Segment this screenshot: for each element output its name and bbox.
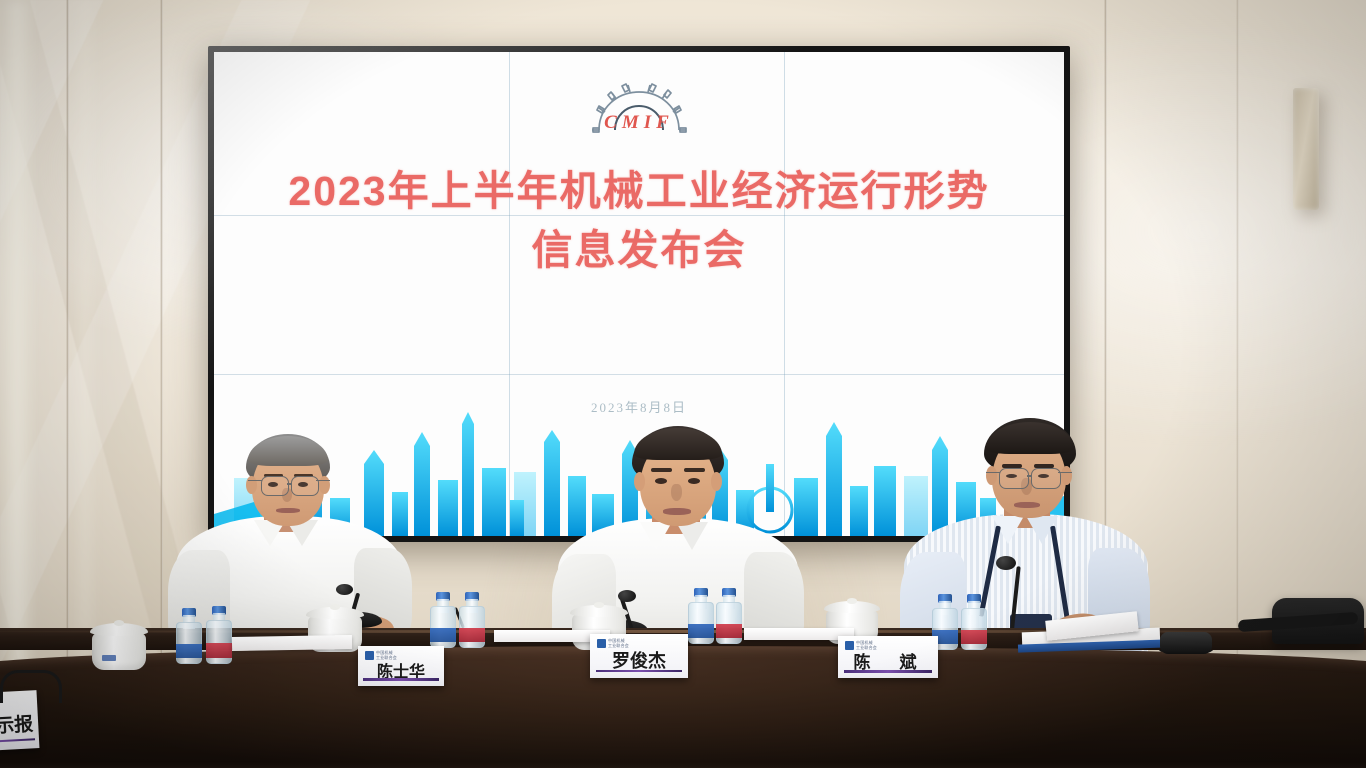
bottle-label xyxy=(459,628,485,643)
glasses-lens xyxy=(291,476,319,496)
ear xyxy=(319,476,330,494)
ear xyxy=(986,466,997,485)
shirt-collar xyxy=(640,522,672,550)
press-conference-scene: CMIF 2023年上半年机械工业经济运行形势 信息发布会 2023年8月8日 xyxy=(0,0,1366,768)
bottle-label xyxy=(430,628,456,643)
nameplate-accent-bar xyxy=(596,670,682,673)
org-name: 中国机械工业联合会 xyxy=(608,639,629,647)
mouth xyxy=(276,508,300,513)
water-bottle[interactable] xyxy=(961,594,987,650)
org-mark-icon xyxy=(845,641,854,650)
org-name: 中国机械工业联合会 xyxy=(376,651,397,659)
glasses-arm xyxy=(248,480,262,481)
eye xyxy=(688,478,700,484)
glasses-lens xyxy=(261,476,289,496)
panel-seam xyxy=(214,374,1064,375)
teacup-knob xyxy=(847,598,857,604)
water-bottle[interactable] xyxy=(176,608,202,664)
cmif-logo: CMIF xyxy=(214,78,1064,134)
teacup[interactable] xyxy=(92,620,146,670)
placard-holder-wire xyxy=(0,670,62,703)
bottle-label xyxy=(176,644,202,659)
org-name: 中国机械工业联合会 xyxy=(856,641,877,649)
mic-head xyxy=(996,556,1016,570)
nameplate-org-logo: 中国机械工业联合会 xyxy=(365,651,397,660)
water-bottle[interactable] xyxy=(459,592,485,648)
wall-panel-seam xyxy=(66,0,69,768)
title-line-1: 2023年上半年机械工业经济运行形势 xyxy=(214,162,1064,221)
mic-head xyxy=(618,590,636,602)
nameplate-accent-bar xyxy=(844,670,932,673)
cmif-wordmark: CMIF xyxy=(604,112,674,134)
nose xyxy=(671,484,682,501)
water-bottle[interactable] xyxy=(716,588,742,644)
wall-light-glow xyxy=(78,0,92,768)
glasses-arm xyxy=(316,480,330,481)
org-mark-icon xyxy=(365,651,374,660)
bottle-label xyxy=(961,630,987,645)
bottle-label xyxy=(716,624,742,639)
nameplate-name: 罗俊杰 xyxy=(612,647,666,673)
ear xyxy=(711,472,722,491)
hair-front xyxy=(248,436,328,466)
title-line-2: 信息发布会 xyxy=(214,221,1064,280)
nameplate-org-logo: 中国机械工业联合会 xyxy=(845,641,877,650)
teacup-knob xyxy=(330,604,341,610)
nameplate-center: 中国机械工业联合会 罗俊杰 xyxy=(590,634,688,678)
glasses-lens xyxy=(999,468,1029,489)
document-stack[interactable] xyxy=(232,635,352,651)
water-bottle[interactable] xyxy=(206,606,232,664)
table-edge-highlight xyxy=(0,630,1366,633)
eyebrow xyxy=(651,468,672,472)
glasses-lens xyxy=(1031,468,1061,489)
mic-head xyxy=(336,584,353,595)
nameplate-org-logo: 中国机械工业联合会 xyxy=(597,639,629,648)
glasses-arm xyxy=(1058,472,1072,473)
nameplate-left: 中国机械工业联合会 陈士华 xyxy=(358,646,444,686)
nameplate-accent-bar xyxy=(0,738,35,744)
ear xyxy=(1061,466,1072,485)
water-bottle[interactable] xyxy=(688,588,714,644)
nameplate-right: 中国机械工业联合会 陈 斌 xyxy=(838,636,938,678)
bottle-label xyxy=(206,643,232,658)
wall-sconce xyxy=(1293,88,1319,210)
glasses-bridge xyxy=(287,483,291,485)
glasses-bridge xyxy=(1027,475,1031,477)
water-bottle[interactable] xyxy=(430,592,456,648)
camera-body xyxy=(1160,632,1212,654)
teacup-logo xyxy=(102,655,116,662)
wall-panel-seam xyxy=(1236,0,1239,768)
eyebrow xyxy=(684,468,705,472)
teacup-body xyxy=(92,633,146,670)
mouth xyxy=(1014,502,1040,508)
eye xyxy=(655,478,667,484)
screen-title: 2023年上半年机械工业经济运行形势 信息发布会 xyxy=(214,162,1064,281)
mouth xyxy=(663,508,691,515)
ear xyxy=(634,472,645,491)
nameplate-accent-bar xyxy=(363,678,439,681)
shirt-collar xyxy=(676,522,708,550)
ear xyxy=(246,476,257,494)
hair-front xyxy=(634,428,722,460)
org-mark-icon xyxy=(597,639,606,648)
teacup-knob xyxy=(594,602,605,608)
bottle-label xyxy=(688,624,714,639)
wall-light-glow xyxy=(0,0,34,768)
glasses-arm xyxy=(986,472,1000,473)
nameplate-name: 示报 xyxy=(0,709,34,738)
